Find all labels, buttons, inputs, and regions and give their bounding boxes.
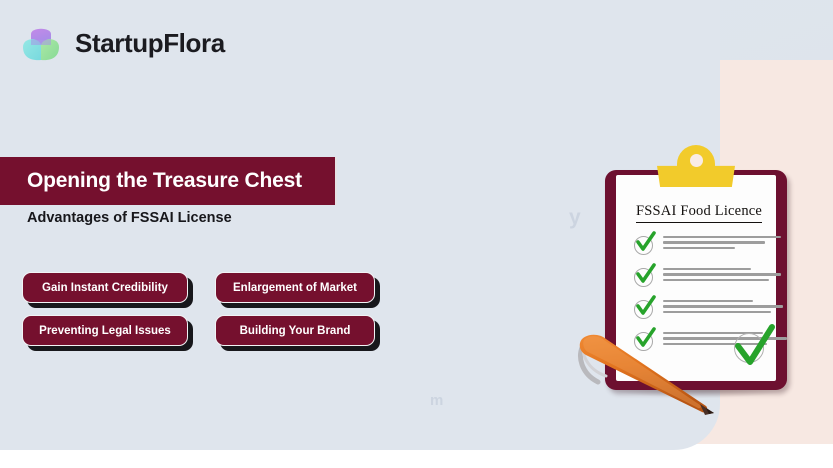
checklist-row [632,231,782,259]
advantage-button-legal[interactable]: Preventing Legal Issues [22,315,188,346]
advantage-button-label: Building Your Brand [240,325,351,337]
advantage-button-brand[interactable]: Building Your Brand [215,315,375,346]
brand-logo[interactable]: StartupFlora [18,20,225,66]
green-check-icon [635,262,657,286]
large-green-check-icon [733,322,777,368]
slide-canvas: y m [0,0,833,468]
advantage-button-credibility[interactable]: Gain Instant Credibility [22,272,188,303]
watermark-mark-2: m [430,392,444,409]
clipboard-clip-hole [690,154,703,167]
brand-name: StartupFlora [75,28,225,59]
watermark-mark-1: y [569,206,582,230]
advantage-button-market[interactable]: Enlargement of Market [215,272,375,303]
clipboard-title: FSSAI Food Licence [636,203,762,223]
advantage-button-label: Enlargement of Market [233,282,357,294]
checklist-row [632,263,782,291]
heading-banner: Opening the Treasure Chest [0,157,337,205]
advantage-button-label: Preventing Legal Issues [39,325,171,337]
advantage-button-label: Gain Instant Credibility [42,282,168,294]
orange-pen-icon [572,312,732,422]
gradient-blob-logo-icon [18,20,64,66]
green-check-icon [635,230,657,254]
page-title: Opening the Treasure Chest [27,169,302,193]
page-subtitle: Advantages of FSSAI License [27,210,232,226]
checklist-text-lines [663,236,782,252]
checklist-text-lines [663,268,782,284]
